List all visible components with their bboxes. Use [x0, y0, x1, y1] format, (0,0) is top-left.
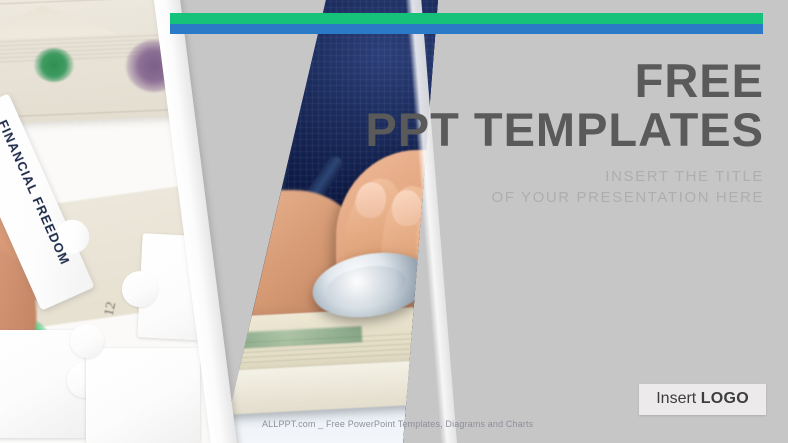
subtitle-line-2: OF YOUR PRESENTATION HERE [334, 187, 764, 208]
page-title: FREE PPT TEMPLATES [334, 58, 764, 154]
subtitle: INSERT THE TITLE OF YOUR PRESENTATION HE… [334, 166, 764, 209]
jigsaw-piece [86, 348, 200, 443]
bill-green-seal [34, 48, 74, 82]
bill-arch-motif [0, 0, 119, 41]
green-bar [170, 13, 763, 24]
insert-logo-strong: LOGO [701, 390, 749, 407]
title-line-2: PPT TEMPLATES [334, 106, 764, 154]
title-line-1: FREE [334, 58, 764, 104]
bill-denomination-number: 12 [103, 301, 120, 318]
subtitle-line-1: INSERT THE TITLE [334, 166, 764, 187]
chestpiece-diaphragm [323, 260, 408, 311]
credit-text: ALLPPT.com _ Free PowerPoint Templates, … [262, 420, 533, 429]
presentation-slide: L111801 12 FINANCIAL FREEDOM [0, 0, 788, 443]
insert-logo-prefix: Insert [656, 390, 700, 407]
blue-bar [170, 24, 763, 34]
insert-logo-button[interactable]: Insert LOGO [639, 384, 766, 415]
